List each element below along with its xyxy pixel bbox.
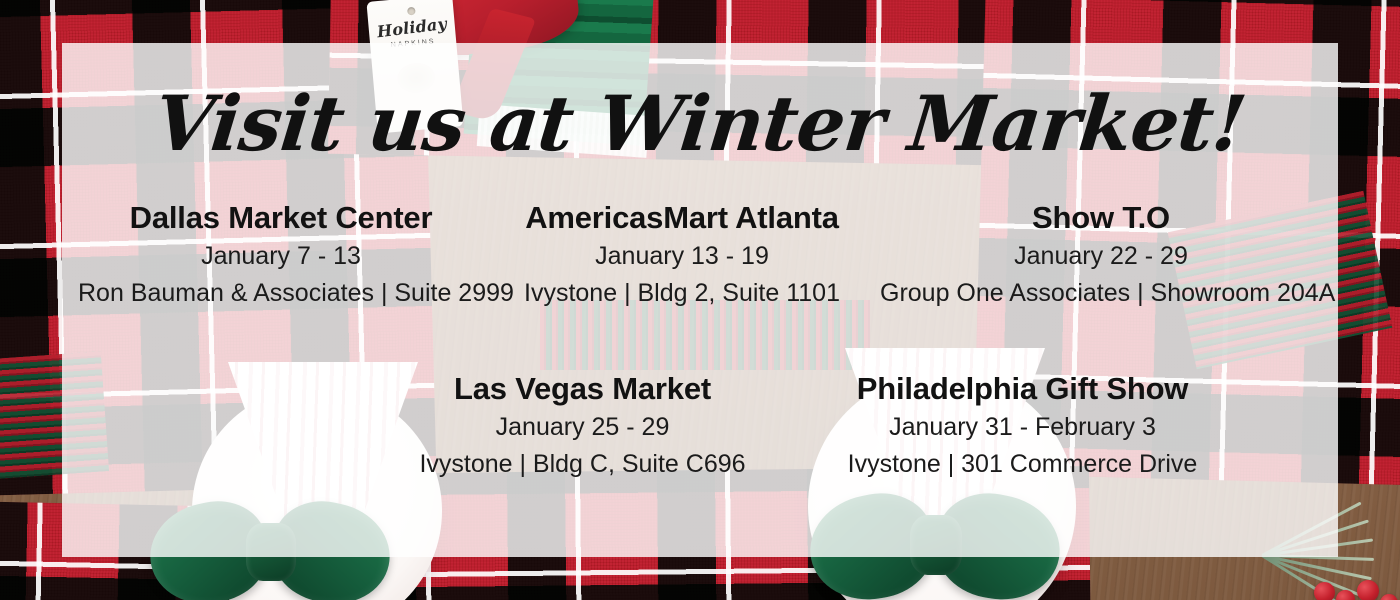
market-name: Philadelphia Gift Show <box>815 372 1231 405</box>
market-card-americasmart: AmericasMart Atlanta January 13 - 19 Ivy… <box>496 201 868 310</box>
banner-headline: Visit us at Winter Market! <box>58 86 1342 162</box>
market-name: Las Vegas Market <box>375 372 791 405</box>
red-berry <box>1357 580 1379 600</box>
red-berry <box>1380 594 1398 600</box>
market-location: Ron Bauman & Associates | Suite 2999 <box>78 277 484 311</box>
market-row-bottom: Las Vegas Market January 25 - 29 Ivyston… <box>62 372 1338 481</box>
market-location: Ivystone | 301 Commerce Drive <box>815 448 1231 482</box>
market-dates: January 7 - 13 <box>78 238 484 274</box>
market-dates: January 31 - February 3 <box>815 409 1231 445</box>
gift-tag-hole <box>407 7 416 16</box>
market-card-las-vegas: Las Vegas Market January 25 - 29 Ivyston… <box>363 372 803 481</box>
market-name: Show T.O <box>880 201 1322 234</box>
market-dates: January 22 - 29 <box>880 238 1322 274</box>
red-berry <box>1314 582 1335 600</box>
market-location: Group One Associates | Showroom 204A <box>880 277 1322 311</box>
market-dates: January 13 - 19 <box>508 238 856 274</box>
market-card-show-to: Show T.O January 22 - 29 Group One Assoc… <box>868 201 1334 310</box>
market-location: Ivystone | Bldg C, Suite C696 <box>375 448 791 482</box>
market-row-top: Dallas Market Center January 7 - 13 Ron … <box>62 201 1338 310</box>
banner-content: Visit us at Winter Market! Dallas Market… <box>62 43 1338 557</box>
market-name: AmericasMart Atlanta <box>508 201 856 234</box>
market-card-dallas: Dallas Market Center January 7 - 13 Ron … <box>66 201 496 310</box>
winter-market-banner: Holiday NAPKINS <box>0 0 1400 600</box>
market-card-philadelphia: Philadelphia Gift Show January 31 - Febr… <box>803 372 1243 481</box>
market-name: Dallas Market Center <box>78 201 484 234</box>
market-dates: January 25 - 29 <box>375 409 791 445</box>
market-location: Ivystone | Bldg 2, Suite 1101 <box>508 277 856 311</box>
gift-tag-word: Holiday <box>376 14 448 41</box>
